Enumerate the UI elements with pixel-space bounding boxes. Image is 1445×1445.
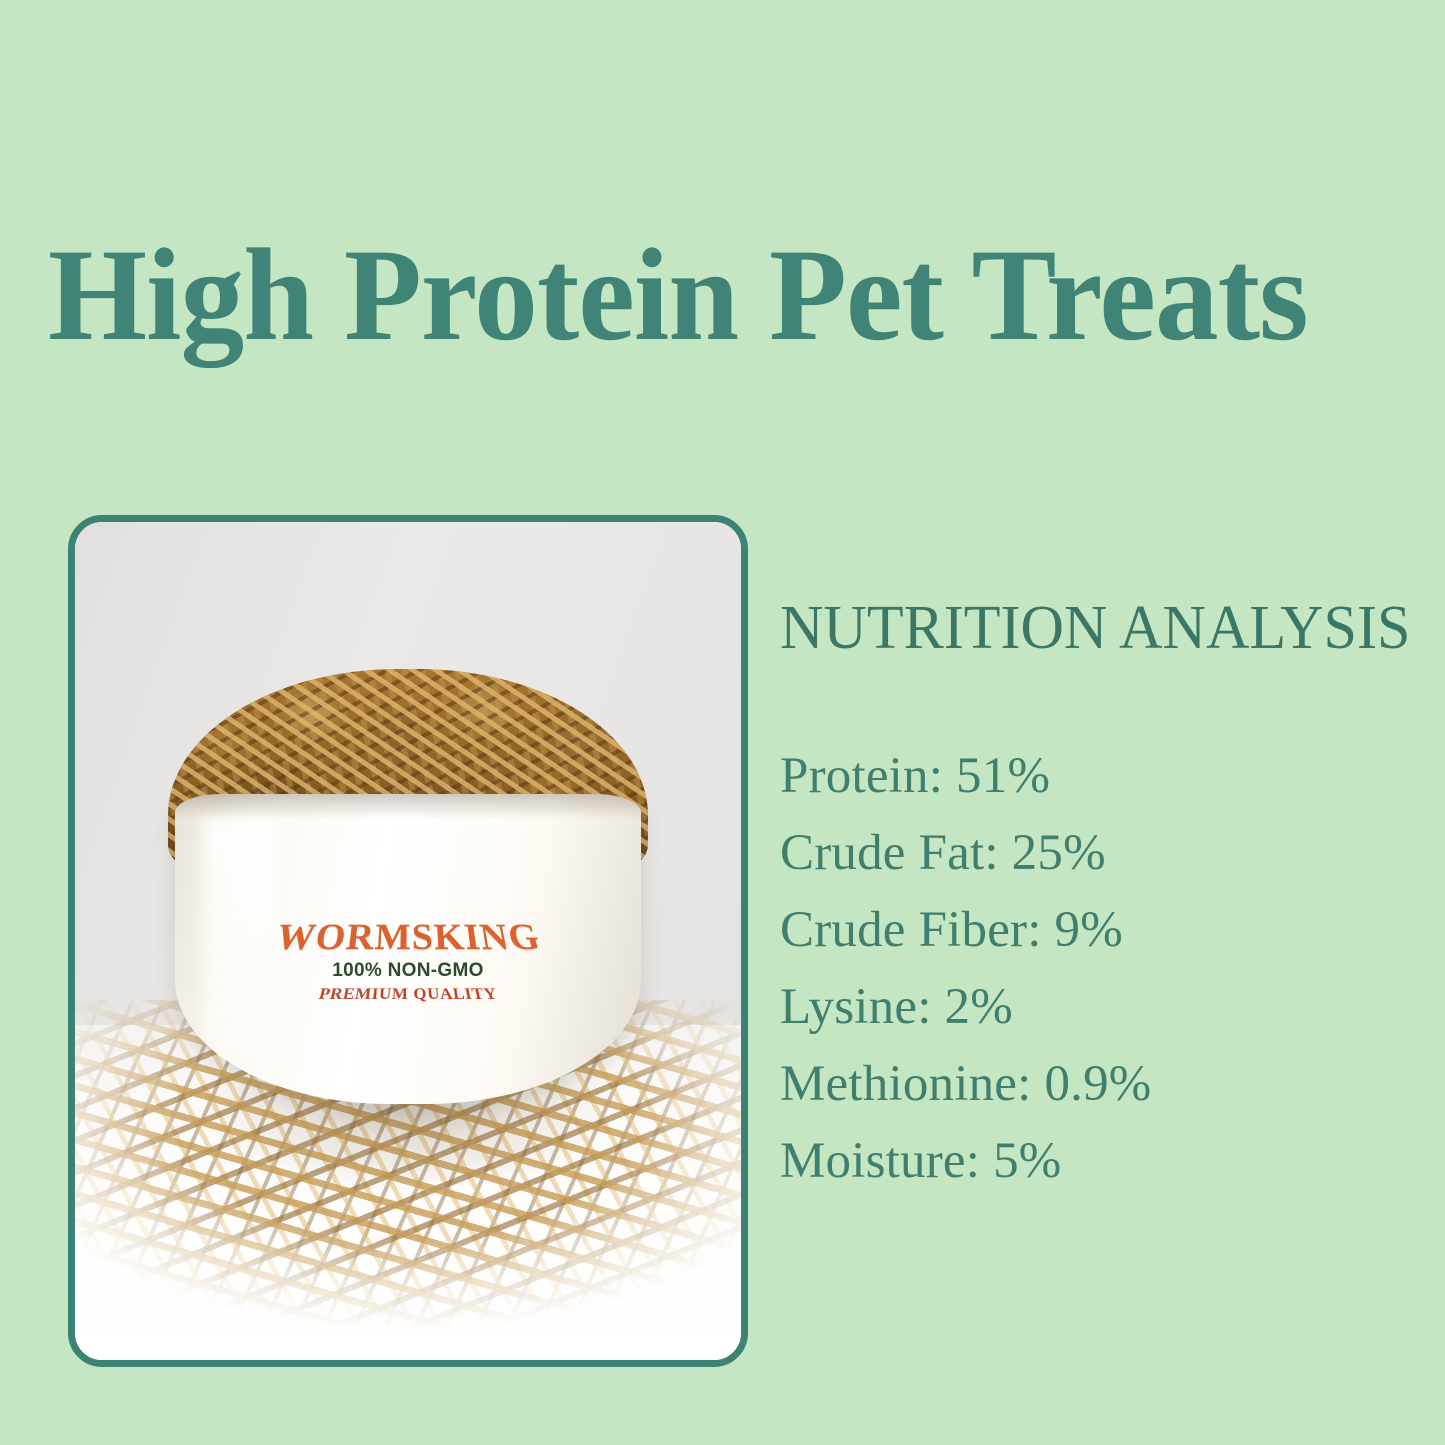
bowl-rim xyxy=(175,794,641,819)
nutrition-item: Moisture: 5% xyxy=(780,1123,1405,1200)
product-photo: WORMSKING 100% NON-GMO PREMIUM QUALITY xyxy=(75,522,741,1360)
brand-name-text: WORMSKING xyxy=(175,920,641,957)
nutrition-item: Lysine: 2% xyxy=(780,969,1405,1046)
nutrition-item: Crude Fiber: 9% xyxy=(780,892,1405,969)
nutrition-item: Protein: 51% xyxy=(780,738,1405,815)
page-title: High Protein Pet Treats xyxy=(48,230,1353,360)
bowl-brand-logo: WORMSKING 100% NON-GMO PREMIUM QUALITY xyxy=(175,918,641,1004)
nutrition-panel: NUTRITION ANALYSIS Protein: 51% Crude Fa… xyxy=(780,596,1405,1200)
product-infographic: High Protein Pet Treats WORMSKING 100% N… xyxy=(0,0,1445,1445)
nutrition-heading: NUTRITION ANALYSIS xyxy=(780,596,1386,660)
product-photo-frame: WORMSKING 100% NON-GMO PREMIUM QUALITY xyxy=(68,515,748,1367)
brand-quality-text: PREMIUM QUALITY xyxy=(175,985,641,1004)
ceramic-bowl: WORMSKING 100% NON-GMO PREMIUM QUALITY xyxy=(175,794,641,1104)
nutrition-item: Methionine: 0.9% xyxy=(780,1046,1405,1123)
brand-tagline-text: 100% NON-GMO xyxy=(175,960,641,982)
nutrition-item: Crude Fat: 25% xyxy=(780,815,1405,892)
nutrition-list: Protein: 51% Crude Fat: 25% Crude Fiber:… xyxy=(780,738,1405,1200)
